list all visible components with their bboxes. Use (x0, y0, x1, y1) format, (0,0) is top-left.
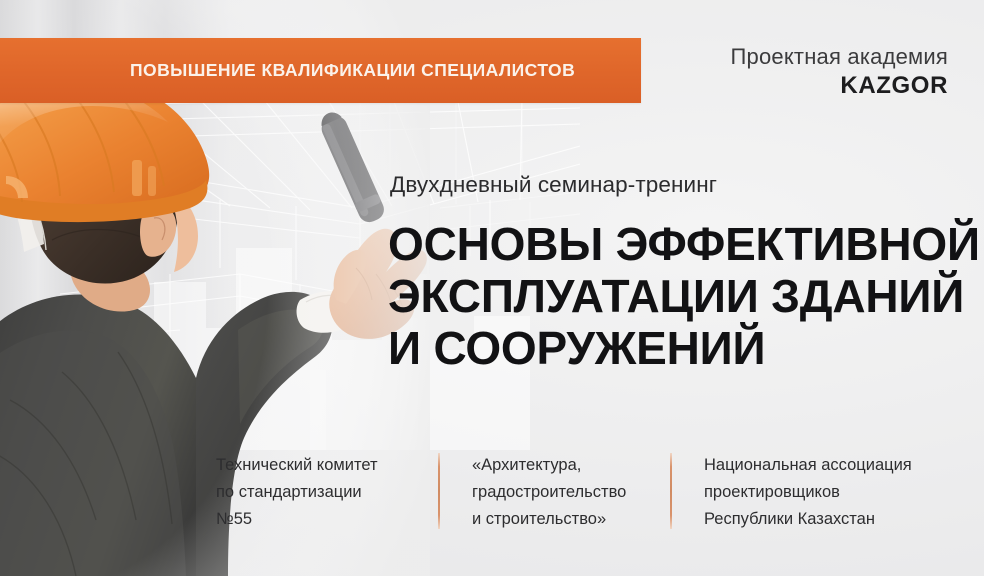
credits-divider-2 (670, 453, 672, 529)
credit-line: Технический комитет (216, 452, 426, 479)
promo-poster: ПОВЫШЕНИЕ КВАЛИФИКАЦИИ СПЕЦИАЛИСТОВ Прое… (0, 0, 984, 576)
credit-column-technical-committee: Технический комитет по стандартизации №5… (216, 452, 426, 533)
event-title-line-1: ОСНОВЫ ЭФФЕКТИВНОЙ (388, 218, 968, 270)
credit-line: №55 (216, 506, 426, 533)
event-subtitle: Двухдневный семинар-тренинг (390, 172, 717, 198)
event-title: ОСНОВЫ ЭФФЕКТИВНОЙ ЭКСПЛУАТАЦИИ ЗДАНИЙ И… (388, 218, 968, 374)
credit-line: Национальная ассоциация (704, 452, 954, 479)
brand-academy-label: Проектная академия (731, 44, 948, 70)
credit-line: и строительство» (472, 506, 677, 533)
header-banner-label: ПОВЫШЕНИЕ КВАЛИФИКАЦИИ СПЕЦИАЛИСТОВ (130, 38, 575, 103)
credits-divider-1 (438, 453, 440, 529)
credit-line: градостроительство (472, 479, 677, 506)
credit-column-national-association: Национальная ассоциация проектировщиков … (704, 452, 954, 533)
event-title-line-3: И СООРУЖЕНИЙ (388, 322, 968, 374)
credits-row: Технический комитет по стандартизации №5… (216, 452, 956, 538)
brand-block: Проектная академия KAZGOR (731, 44, 948, 100)
event-title-line-2: ЭКСПЛУАТАЦИИ ЗДАНИЙ (388, 270, 968, 322)
credit-line: проектировщиков (704, 479, 954, 506)
credit-line: «Архитектура, (472, 452, 677, 479)
brand-name-kazgor: KAZGOR (731, 72, 948, 100)
credit-line: Республики Казахстан (704, 506, 954, 533)
credit-column-architecture: «Архитектура, градостроительство и строи… (472, 452, 677, 533)
credit-line: по стандартизации (216, 479, 426, 506)
